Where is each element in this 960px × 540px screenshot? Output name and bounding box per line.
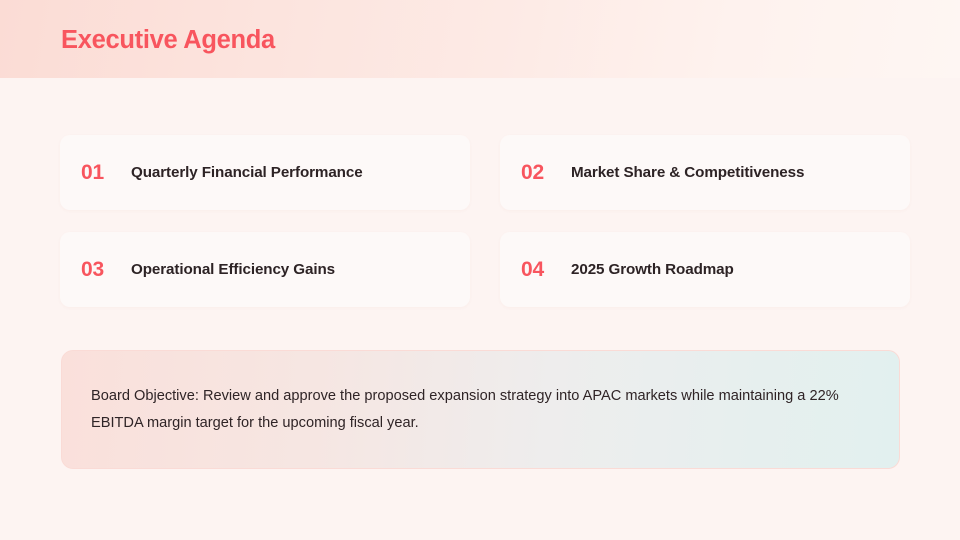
agenda-label: Market Share & Competitiveness	[571, 164, 804, 181]
agenda-number: 01	[81, 161, 131, 185]
header-band: Executive Agenda	[0, 0, 960, 78]
agenda-card-02[interactable]: 02 Market Share & Competitiveness	[500, 135, 910, 210]
agenda-grid: 01 Quarterly Financial Performance 02 Ma…	[60, 135, 910, 307]
agenda-card-03[interactable]: 03 Operational Efficiency Gains	[60, 232, 470, 307]
agenda-card-01[interactable]: 01 Quarterly Financial Performance	[60, 135, 470, 210]
agenda-label: 2025 Growth Roadmap	[571, 261, 734, 278]
agenda-label: Operational Efficiency Gains	[131, 261, 335, 278]
objective-text: Board Objective: Review and approve the …	[62, 383, 899, 437]
agenda-label: Quarterly Financial Performance	[131, 164, 363, 181]
agenda-card-04[interactable]: 04 2025 Growth Roadmap	[500, 232, 910, 307]
slide-canvas: Executive Agenda 01 Quarterly Financial …	[0, 0, 960, 540]
agenda-number: 02	[521, 161, 571, 185]
agenda-number: 03	[81, 258, 131, 282]
page-title: Executive Agenda	[61, 24, 275, 56]
agenda-number: 04	[521, 258, 571, 282]
objective-callout: Board Objective: Review and approve the …	[61, 350, 900, 469]
